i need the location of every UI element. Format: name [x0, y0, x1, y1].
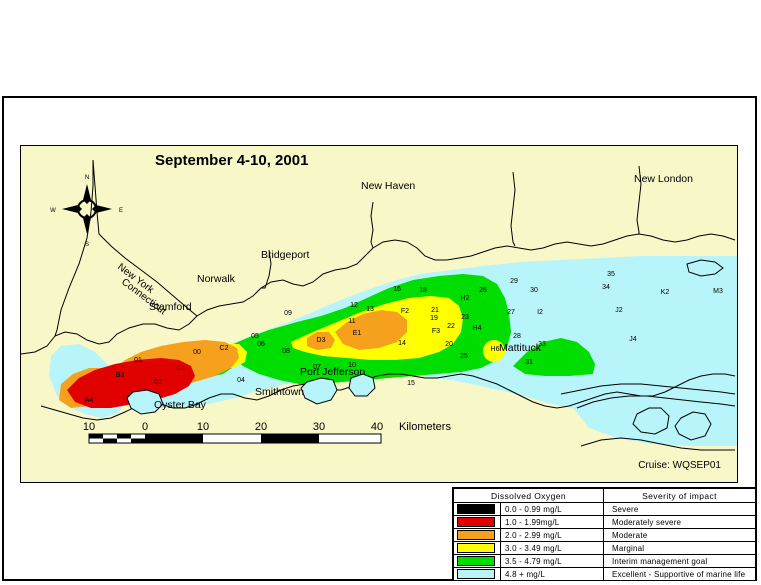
legend-header-row: Dissolved Oxygen Severity of impact: [454, 489, 756, 503]
station-label: H2: [461, 295, 470, 302]
station-label: B3: [116, 372, 125, 379]
legend-row: 1.0 - 1.99mg/LModerately severe: [454, 516, 756, 529]
station-label: F2: [401, 308, 409, 315]
map-canvas: N S W E New York Connecticut New Haven N…: [20, 145, 738, 483]
city-label-smithtown: Smithtown: [255, 386, 304, 398]
legend-swatch-cell: [454, 555, 501, 568]
station-label: 35: [607, 271, 615, 278]
station-label: 34: [602, 284, 610, 291]
legend-body: 0.0 - 0.99 mg/LSevere1.0 - 1.99mg/LModer…: [454, 503, 756, 581]
compass-west-label: W: [50, 208, 56, 214]
station-label: 19: [430, 315, 438, 322]
city-label-new-haven: New Haven: [361, 180, 415, 192]
map-svg: N S W E New York Connecticut New Haven N…: [21, 146, 737, 482]
legend-severity-label: Marginal: [604, 542, 756, 555]
station-label: C1: [177, 365, 186, 372]
legend-swatch-cell: [454, 529, 501, 542]
scale-tick-2: 10: [197, 421, 209, 433]
map-page: Dissolved Oxygen in Long Island Sound Bo…: [0, 0, 761, 585]
station-label: F3: [432, 328, 440, 335]
legend-range-label: 1.0 - 1.99mg/L: [501, 516, 604, 529]
station-label: 00: [193, 349, 201, 356]
station-label: 07: [313, 364, 321, 371]
legend-color-swatch: [457, 504, 495, 514]
station-label: 22: [447, 323, 455, 330]
city-label-norwalk: Norwalk: [197, 273, 236, 285]
legend-range-label: 4.8 + mg/L: [501, 568, 604, 581]
legend-swatch-cell: [454, 503, 501, 516]
station-label: 13: [366, 306, 374, 313]
station-label: 23: [461, 314, 469, 321]
legend-severity-label: Moderately severe: [604, 516, 756, 529]
station-label: 28: [513, 333, 521, 340]
station-label: 10: [348, 362, 356, 369]
station-label: C2: [220, 345, 229, 352]
legend-severity-label: Moderate: [604, 529, 756, 542]
city-label-mattituck: Mattituck: [499, 342, 542, 354]
legend-swatch-cell: [454, 542, 501, 555]
compass-south-label: S: [85, 242, 89, 248]
legend-range-label: 3.5 - 4.79 mg/L: [501, 555, 604, 568]
scale-tick-3: 20: [255, 421, 267, 433]
station-label: 18: [419, 287, 427, 294]
legend-row: 3.0 - 3.49 mg/LMarginal: [454, 542, 756, 555]
scale-tick-1: 0: [142, 421, 148, 433]
station-label: 20: [445, 341, 453, 348]
cruise-label: Cruise: WQSEP01: [638, 460, 721, 471]
station-label: 31: [525, 359, 533, 366]
legend-color-swatch: [457, 530, 495, 540]
city-label-bridgeport: Bridgeport: [261, 249, 310, 261]
station-label: 25: [460, 353, 468, 360]
scale-tick-5: 40: [371, 421, 383, 433]
legend-severity-label: Excellent - Supportive of marine life: [604, 568, 756, 581]
legend-header-severity: Severity of impact: [604, 489, 756, 503]
legend-severity-label: Interim management goal: [604, 555, 756, 568]
legend-row: 4.8 + mg/LExcellent - Supportive of mari…: [454, 568, 756, 581]
station-label: 29: [510, 278, 518, 285]
station-label: 26: [479, 287, 487, 294]
legend-range-label: 2.0 - 2.99 mg/L: [501, 529, 604, 542]
legend-color-swatch: [457, 556, 495, 566]
station-label: 21: [431, 307, 439, 314]
compass-east-label: E: [119, 208, 123, 214]
station-label: 33: [538, 341, 546, 348]
station-label: 27: [507, 309, 515, 316]
station-label: 05: [251, 333, 259, 340]
station-label: J2: [615, 307, 623, 314]
legend-swatch-cell: [454, 568, 501, 581]
station-label: 12: [350, 302, 358, 309]
station-label: 15: [407, 380, 415, 387]
city-label-new-london: New London: [634, 173, 693, 185]
station-label: J4: [629, 336, 637, 343]
station-label: 08: [282, 348, 290, 355]
station-label: H6: [491, 346, 500, 353]
compass-north-label: N: [85, 175, 89, 181]
station-label: 02: [154, 379, 162, 386]
city-label-oyster-bay: Oyster Bay: [154, 399, 207, 411]
legend-header-do: Dissolved Oxygen: [454, 489, 604, 503]
legend-row: 3.5 - 4.79 mg/LInterim management goal: [454, 555, 756, 568]
legend-color-swatch: [457, 517, 495, 527]
scale-tick-0: 10: [83, 421, 95, 433]
legend-color-swatch: [457, 543, 495, 553]
legend-row: 2.0 - 2.99 mg/LModerate: [454, 529, 756, 542]
city-label-stamford: Stamford: [149, 301, 192, 313]
station-label: I2: [537, 309, 543, 316]
station-label: 06: [257, 341, 265, 348]
legend-swatch-cell: [454, 516, 501, 529]
station-label: 11: [348, 318, 355, 325]
station-label: 01: [134, 357, 142, 364]
legend-severity-label: Severe: [604, 503, 756, 516]
scale-tick-4: 30: [313, 421, 325, 433]
scale-unit-label: Kilometers: [399, 421, 451, 433]
legend-range-label: 3.0 - 3.49 mg/L: [501, 542, 604, 555]
station-label: 14: [398, 340, 406, 347]
legend-table: Dissolved Oxygen Severity of impact 0.0 …: [453, 488, 756, 581]
station-label: A4: [85, 397, 94, 404]
legend-panel: Dissolved Oxygen Severity of impact 0.0 …: [452, 487, 757, 581]
station-label: 30: [530, 287, 538, 294]
station-label: 09: [284, 310, 292, 317]
station-label: 04: [237, 377, 245, 384]
station-label: H4: [473, 325, 482, 332]
station-label: D3: [317, 337, 326, 344]
station-label: 16: [393, 286, 401, 293]
survey-date-label: September 4-10, 2001: [155, 152, 308, 169]
station-label: E1: [353, 330, 362, 337]
legend-color-swatch: [457, 569, 495, 579]
station-label: M3: [713, 288, 723, 295]
station-label: K2: [661, 289, 670, 296]
legend-range-label: 0.0 - 0.99 mg/L: [501, 503, 604, 516]
legend-row: 0.0 - 0.99 mg/LSevere: [454, 503, 756, 516]
